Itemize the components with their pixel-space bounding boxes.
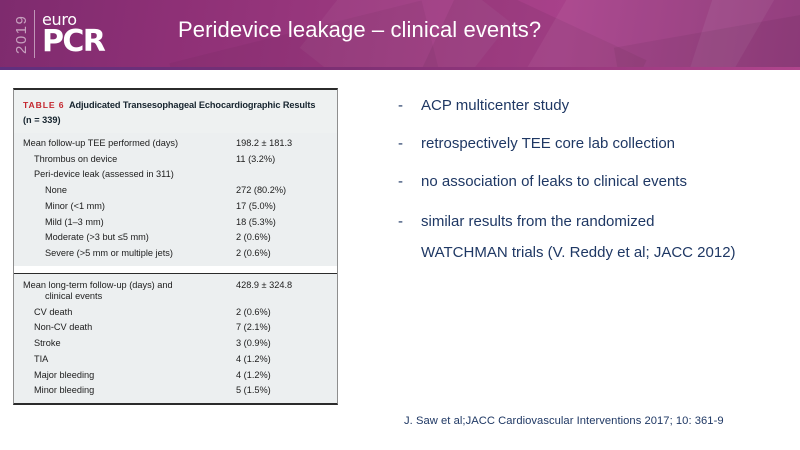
table-row: Thrombus on device11 (3.2%): [14, 152, 337, 168]
table-row-label: Major bleeding: [23, 370, 236, 382]
table-row-value: 7 (2.1%): [236, 322, 328, 334]
table-row: Moderate (>3 but ≤5 mm)2 (0.6%): [14, 230, 337, 246]
table-row-value: 18 (5.3%): [236, 217, 328, 229]
table-row-label-continuation: clinical events: [23, 291, 236, 303]
table-row-label: Non-CV death: [23, 322, 236, 334]
table-row-label: Thrombus on device: [23, 154, 236, 166]
table-row-label: Stroke: [23, 338, 236, 350]
bullet-list: -ACP multicenter study-retrospectively T…: [398, 96, 788, 281]
bullet-item: -similar results from the randomizedWATC…: [398, 212, 788, 262]
bullet-text: similar results from the randomizedWATCH…: [421, 212, 736, 262]
table-caption: TABLE 6 Adjudicated Transesophageal Echo…: [14, 90, 337, 133]
table-row-label: CV death: [23, 307, 236, 319]
table-row-label: Mild (1–3 mm): [23, 217, 236, 229]
citation-text: J. Saw et al;JACC Cardiovascular Interve…: [404, 415, 724, 427]
table-row: Peri-device leak (assessed in 311): [14, 167, 337, 183]
header-underline-divider: [0, 67, 800, 70]
logo-pcr-text: PCR: [42, 27, 104, 56]
table-row-value: 17 (5.0%): [236, 201, 328, 213]
table-row-value: 2 (0.6%): [236, 307, 328, 319]
table-row-label: Minor (<1 mm): [23, 201, 236, 213]
table-number-label: TABLE 6: [23, 100, 64, 110]
table-section-gap: [14, 266, 337, 273]
header-facet-decoration: [682, 0, 800, 67]
table-row: Mean long-term follow-up (days) andclini…: [14, 278, 337, 305]
table-row: TIA4 (1.2%): [14, 352, 337, 368]
table-row: CV death2 (0.6%): [14, 305, 337, 321]
table-sample-size: (n = 339): [23, 114, 328, 127]
logo-divider-rule: [34, 10, 35, 58]
header-facet-decoration: [614, 10, 800, 67]
table-row-label: Mean follow-up TEE performed (days): [23, 138, 236, 150]
table-row: Minor (<1 mm)17 (5.0%): [14, 199, 337, 215]
table-row-label: Severe (>5 mm or multiple jets): [23, 248, 236, 260]
table-row-label: Mean long-term follow-up (days) andclini…: [23, 280, 236, 303]
table-row-value: 4 (1.2%): [236, 354, 328, 366]
bullet-text: ACP multicenter study: [421, 96, 569, 115]
table-row: Major bleeding4 (1.2%): [14, 367, 337, 383]
table-section-clinical-events: Mean long-term follow-up (days) andclini…: [14, 273, 337, 403]
page-title: Peridevice leakage – clinical events?: [178, 17, 541, 43]
table-row-value: 272 (80.2%): [236, 185, 328, 197]
bullet-dash-icon: -: [398, 96, 421, 115]
bullet-text: retrospectively TEE core lab collection: [421, 134, 675, 153]
table-row-label: Moderate (>3 but ≤5 mm): [23, 232, 236, 244]
table-row-value: 3 (0.9%): [236, 338, 328, 350]
bullet-item: -retrospectively TEE core lab collection: [398, 134, 788, 153]
table-row: Minor bleeding5 (1.5%): [14, 383, 337, 399]
table-row-value: 2 (0.6%): [236, 248, 328, 260]
table-row-label: Minor bleeding: [23, 385, 236, 397]
europcr-logo: 2019 euro PCR: [14, 6, 104, 62]
bullet-item: -no association of leaks to clinical eve…: [398, 172, 788, 191]
table-row-value: 198.2 ± 181.3: [236, 138, 328, 150]
table-row: Mean follow-up TEE performed (days)198.2…: [14, 136, 337, 152]
table-row-label: Peri-device leak (assessed in 311): [23, 169, 236, 181]
table-title: Adjudicated Transesophageal Echocardiogr…: [69, 100, 315, 110]
header-facet-decoration: [525, 0, 776, 67]
bullet-dash-icon: -: [398, 134, 421, 153]
table-row-value: 428.9 ± 324.8: [236, 280, 328, 292]
table-row-label: None: [23, 185, 236, 197]
table-row-label: TIA: [23, 354, 236, 366]
table-figure: TABLE 6 Adjudicated Transesophageal Echo…: [13, 88, 338, 405]
table-row: Stroke3 (0.9%): [14, 336, 337, 352]
slide-header-banner: 2019 euro PCR Peridevice leakage – clini…: [0, 0, 800, 67]
table-row: Mild (1–3 mm)18 (5.3%): [14, 214, 337, 230]
table-row: None272 (80.2%): [14, 183, 337, 199]
table-section-tee-results: Mean follow-up TEE performed (days)198.2…: [14, 133, 337, 266]
table-row-value: 2 (0.6%): [236, 232, 328, 244]
table-row: Non-CV death7 (2.1%): [14, 320, 337, 336]
bullet-text-line2: WATCHMAN trials (V. Reddy et al; JACC 20…: [421, 243, 736, 262]
bullet-item: -ACP multicenter study: [398, 96, 788, 115]
logo-year-label: 2019: [14, 8, 29, 60]
logo-wordmark: euro PCR: [42, 12, 104, 56]
bullet-dash-icon: -: [398, 172, 421, 191]
bullet-text: no association of leaks to clinical even…: [421, 172, 687, 191]
table-row-value: 4 (1.2%): [236, 370, 328, 382]
bullet-dash-icon: -: [398, 212, 421, 262]
table-row: Severe (>5 mm or multiple jets)2 (0.6%): [14, 246, 337, 262]
table-row-value: 11 (3.2%): [236, 154, 328, 166]
table-row-value: 5 (1.5%): [236, 385, 328, 397]
